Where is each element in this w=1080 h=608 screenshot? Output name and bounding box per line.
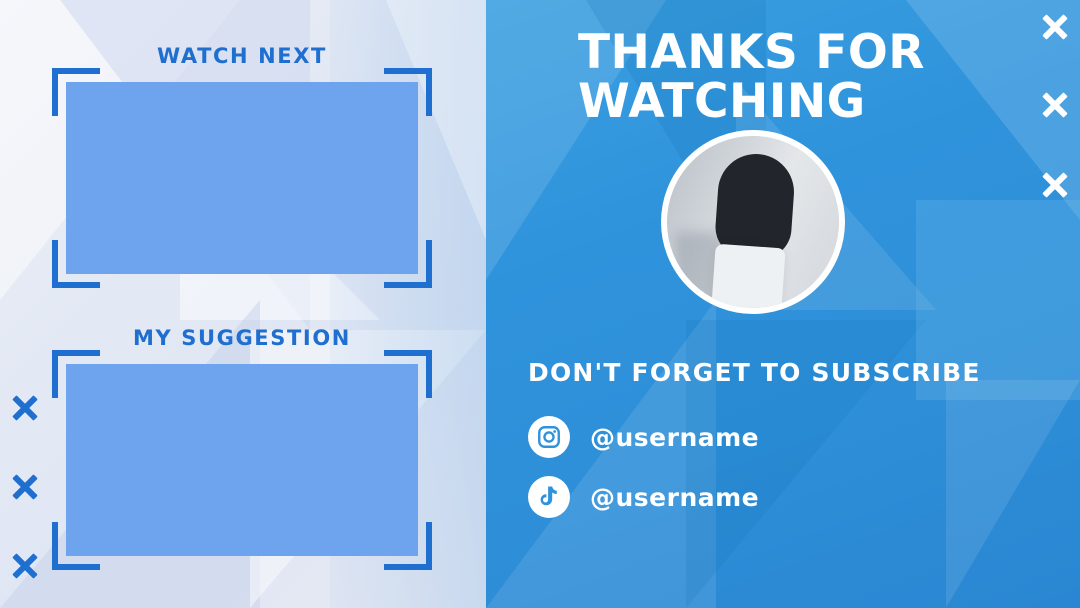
social-row-instagram[interactable]: @username <box>528 416 759 458</box>
frame-corner-icon <box>384 68 432 116</box>
frame-corner-icon <box>52 350 100 398</box>
microphone-body <box>710 244 785 308</box>
frame-corner-icon <box>384 240 432 288</box>
my-suggestion-label: MY SUGGESTION <box>66 326 418 350</box>
instagram-icon[interactable] <box>528 416 570 458</box>
x-mark-icon <box>1040 170 1070 200</box>
x-mark-icon <box>10 551 40 581</box>
my-suggestion-thumbnail[interactable] <box>66 364 418 556</box>
frame-corner-icon <box>384 522 432 570</box>
frame-corner-icon <box>52 68 100 116</box>
watch-next-label: WATCH NEXT <box>66 44 418 68</box>
instagram-handle: @username <box>590 423 759 452</box>
social-row-tiktok[interactable]: @username <box>528 476 759 518</box>
tiktok-handle: @username <box>590 483 759 512</box>
avatar <box>661 130 845 314</box>
x-mark-icon <box>10 472 40 502</box>
frame-corner-icon <box>384 350 432 398</box>
my-suggestion-frame[interactable]: MY SUGGESTION <box>66 364 418 556</box>
avatar-photo <box>667 136 839 308</box>
x-mark-icon <box>1040 12 1070 42</box>
title-line-1: THANKS FOR <box>578 28 1008 77</box>
x-mark-icon <box>10 393 40 423</box>
page-title: THANKS FOR WATCHING <box>578 28 1008 126</box>
x-mark-icon <box>1040 90 1070 120</box>
tiktok-icon[interactable] <box>528 476 570 518</box>
watch-next-frame[interactable]: WATCH NEXT <box>66 82 418 274</box>
frame-corner-icon <box>52 522 100 570</box>
bg-facet <box>946 380 1080 608</box>
watch-next-thumbnail[interactable] <box>66 82 418 274</box>
frame-corner-icon <box>52 240 100 288</box>
subscribe-callout: DON'T FORGET TO SUBSCRIBE <box>528 358 981 387</box>
end-screen-canvas: WATCH NEXT MY SUGGESTION THANKS FOR WATC… <box>0 0 1080 608</box>
title-line-2: WATCHING <box>578 77 1008 126</box>
